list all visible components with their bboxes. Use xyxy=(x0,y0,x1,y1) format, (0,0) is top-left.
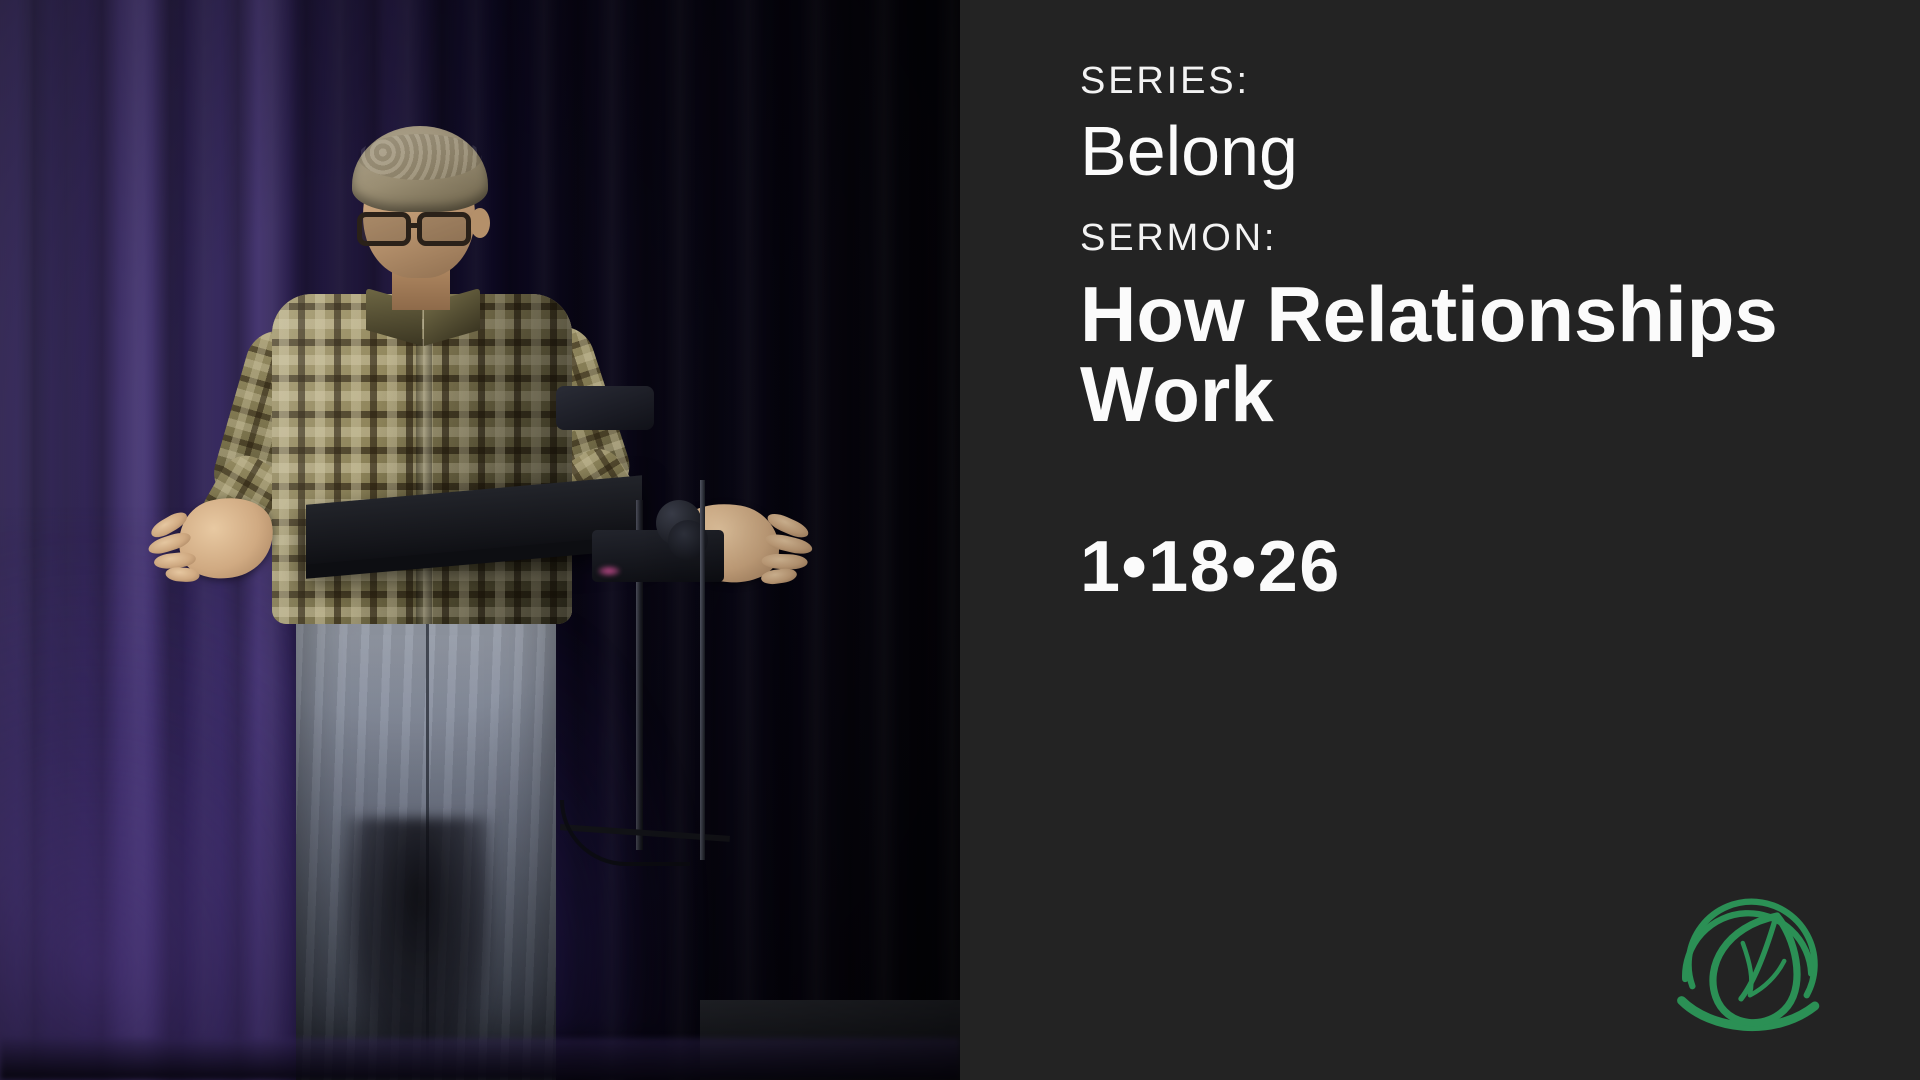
sermon-title: How Relationships Work xyxy=(1080,275,1840,434)
sermon-info-block: SERIES: Belong SERMON: How Relationships… xyxy=(1080,62,1840,608)
info-panel: SERIES: Belong SERMON: How Relationships… xyxy=(960,0,1920,1080)
leaf-in-circle-logo xyxy=(1660,880,1840,1060)
sermon-label: SERMON: xyxy=(1080,219,1840,259)
sermon-date: 1•18•26 xyxy=(1080,526,1840,608)
speaker-photo xyxy=(0,0,960,1080)
series-name: Belong xyxy=(1080,114,1840,190)
sermon-title-slide: SERIES: Belong SERMON: How Relationships… xyxy=(0,0,1920,1080)
series-label: SERIES: xyxy=(1080,62,1840,102)
photo-vignette xyxy=(0,0,960,1080)
